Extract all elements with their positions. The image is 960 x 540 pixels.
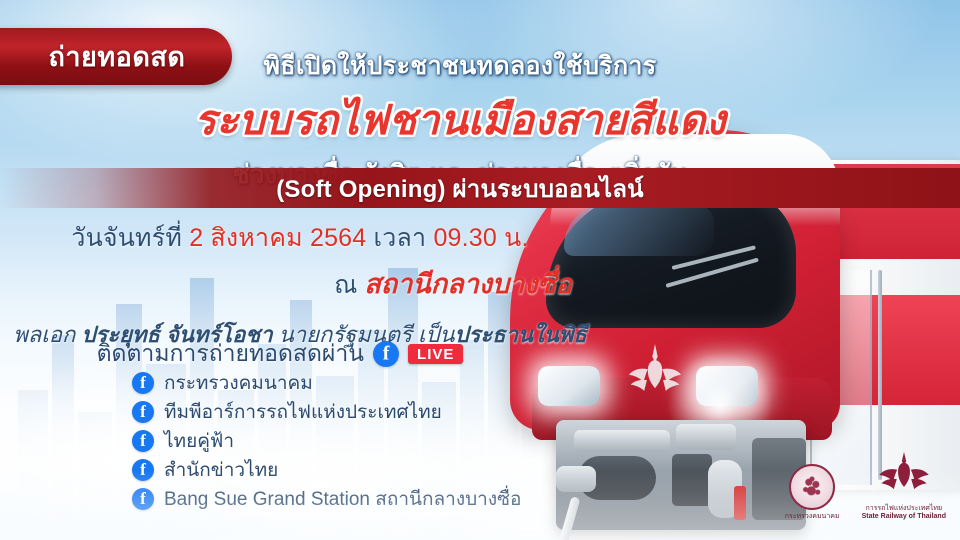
logo-caption-th: กระทรวงคมนาคม xyxy=(785,513,840,522)
date-prefix: วันจันทร์ที่ xyxy=(71,224,182,252)
time-prefix: เวลา xyxy=(374,224,427,252)
channel-name: ไทยคู่ฟ้า xyxy=(164,426,234,456)
train-headlight-right xyxy=(696,366,758,406)
venue-prefix: ณ xyxy=(334,271,357,299)
facebook-icon xyxy=(132,430,154,452)
time-value: 09.30 น. xyxy=(433,224,528,252)
date-value: 2 สิงหาคม 2564 xyxy=(189,224,366,252)
facebook-icon xyxy=(132,459,154,481)
soft-opening-band: (Soft Opening) ผ่านระบบออนไลน์ xyxy=(0,168,960,208)
list-item[interactable]: Bang Sue Grand Station สถานีกลางบางซื่อ xyxy=(132,484,602,513)
live-tag: LIVE xyxy=(408,344,463,364)
venue-value: สถานีกลางบางซื่อ xyxy=(364,269,572,299)
headline-line-2: ระบบรถไฟชานเมืองสายสีแดง xyxy=(0,88,920,153)
list-item[interactable]: ทีมพีอาร์การรถไฟแห่งประเทศไทย xyxy=(132,397,602,426)
event-datetime: วันจันทร์ที่ 2 สิงหาคม 2564 เวลา 09.30 น… xyxy=(0,218,600,258)
list-item[interactable]: กระทรวงคมนาคม xyxy=(132,368,602,397)
facebook-icon[interactable] xyxy=(373,341,399,367)
logo-caption-th: การรถไฟแห่งประเทศไทย xyxy=(862,505,946,514)
event-venue: ณ สถานีกลางบางซื่อ xyxy=(0,262,600,305)
soft-opening-text: (Soft Opening) ผ่านระบบออนไลน์ xyxy=(276,169,644,208)
state-railway-logo: การรถไฟแห่งประเทศไทย State Railway of Th… xyxy=(862,451,946,523)
headline-line-1: พิธีเปิดให้ประชาชนทดลองใช้บริการ xyxy=(0,46,920,86)
poster-canvas: ถ่ายทอดสด พิธีเปิดให้ประชาชนทดลองใช้บริก… xyxy=(0,0,960,540)
list-item[interactable]: สำนักข่าวไทย xyxy=(132,455,602,484)
state-railway-winged-wheel-icon xyxy=(878,451,930,497)
train-handrail xyxy=(878,270,882,480)
facebook-channel-list: กระทรวงคมนาคม ทีมพีอาร์การรถไฟแห่งประเทศ… xyxy=(132,368,602,513)
organization-logos: กระทรวงคมนาคม การรถไฟแห่งประเทศไทย State… xyxy=(785,451,946,523)
event-info-block: วันจันทร์ที่ 2 สิงหาคม 2564 เวลา 09.30 น… xyxy=(0,218,600,352)
facebook-icon xyxy=(132,372,154,394)
list-item[interactable]: ไทยคู่ฟ้า xyxy=(132,426,602,455)
channel-name: กระทรวงคมนาคม xyxy=(164,368,313,398)
ministry-of-transport-logo: กระทรวงคมนาคม xyxy=(785,464,840,522)
channel-name: ทีมพีอาร์การรถไฟแห่งประเทศไทย xyxy=(164,397,442,427)
logo-caption-en: State Railway of Thailand xyxy=(862,513,946,522)
channel-name: สำนักข่าวไทย xyxy=(164,455,278,485)
ministry-of-transport-seal-icon xyxy=(789,464,835,510)
facebook-icon xyxy=(132,401,154,423)
channel-name: Bang Sue Grand Station สถานีกลางบางซื่อ xyxy=(164,484,521,514)
srt-winged-wheel-emblem-icon xyxy=(628,342,682,402)
facebook-icon xyxy=(132,488,154,510)
